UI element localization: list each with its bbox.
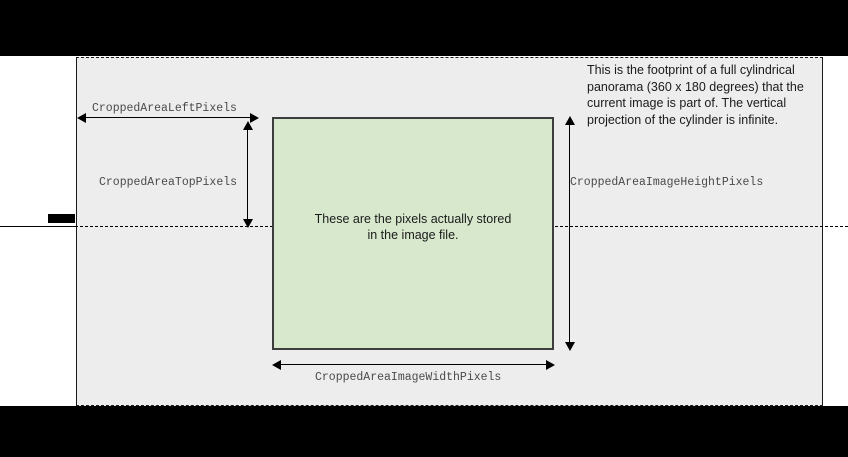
arrowhead-down-icon <box>243 219 253 228</box>
cropped-area-box: These are the pixels actually stored in … <box>272 117 554 350</box>
footprint-note: This is the footprint of a full cylindri… <box>587 62 827 128</box>
label-cropped-area-image-height-pixels: CroppedAreaImageHeightPixels <box>570 176 763 189</box>
arrow-shaft <box>81 117 255 118</box>
footprint-note-line3: current image is part of. The vertical <box>587 95 827 112</box>
arrowhead-right-icon <box>546 360 555 370</box>
footprint-note-line2: panorama (360 x 180 degrees) that the <box>587 79 827 96</box>
footprint-note-line1: This is the footprint of a full cylindri… <box>587 62 827 79</box>
label-cropped-area-top-pixels: CroppedAreaTopPixels <box>99 176 237 189</box>
horizon-marker-block <box>48 214 75 223</box>
arrow-cropped-area-left-pixels <box>77 112 259 123</box>
arrow-cropped-area-image-height-pixels <box>564 116 575 351</box>
arrow-cropped-area-image-width-pixels <box>272 359 555 370</box>
arrow-shaft <box>247 125 248 224</box>
cropped-area-caption: These are the pixels actually stored in … <box>274 211 552 243</box>
horizon-solid-segment <box>0 226 78 227</box>
arrowhead-down-icon <box>565 342 575 351</box>
letterbox-band-bottom <box>0 406 848 457</box>
arrow-shaft <box>569 120 570 347</box>
letterbox-band-top <box>0 0 848 56</box>
diagram-canvas: These are the pixels actually stored in … <box>0 0 848 457</box>
cropped-area-caption-line1: These are the pixels actually stored <box>274 211 552 227</box>
cropped-area-caption-line2: in the image file. <box>274 227 552 243</box>
arrow-cropped-area-top-pixels <box>242 121 253 228</box>
label-cropped-area-image-width-pixels: CroppedAreaImageWidthPixels <box>315 371 501 384</box>
arrow-shaft <box>276 364 551 365</box>
footprint-note-line4: projection of the cylinder is infinite. <box>587 112 827 129</box>
